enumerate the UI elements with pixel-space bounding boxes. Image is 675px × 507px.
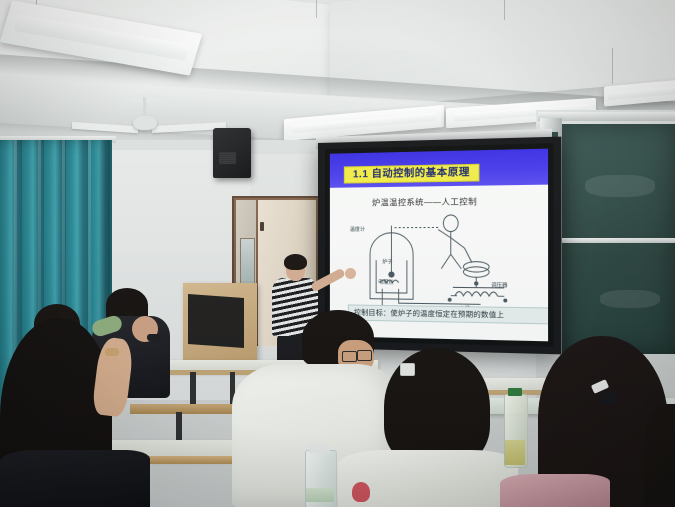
hair-tie: [601, 392, 617, 404]
chalk-smudge: [600, 290, 660, 308]
presenter-hand: [345, 268, 356, 279]
diagram-label-furnace: 炉子: [382, 258, 392, 265]
lamp-wire: [504, 0, 505, 20]
bottle-cap: [309, 444, 330, 453]
presenter-hair: [284, 254, 307, 270]
chalkboard-divider: [560, 238, 675, 243]
bottle-label: [306, 488, 334, 502]
podium-screen: [188, 294, 244, 348]
screen-surface: 1.1 自动控制的基本原理 炉温温控系统——人工控制: [330, 149, 548, 342]
shirt-logo: [352, 482, 370, 502]
presentation-slide: 1.1 自动控制的基本原理 炉温温控系统——人工控制: [330, 149, 548, 342]
slide-footer-note: 控制目标：使炉子的温度恒定在预期的数值上: [348, 304, 548, 324]
door-handle[interactable]: [260, 222, 264, 231]
student-hair: [644, 404, 675, 507]
ceiling-fan-icon: [133, 116, 157, 130]
wristwatch: [147, 334, 160, 341]
diagram-label-thermometer: 温度计: [350, 226, 365, 233]
speaker-grille: [219, 152, 236, 164]
bottle-cap: [508, 388, 522, 396]
furnace-control-diagram: [330, 208, 548, 319]
wrist-accessory: [105, 348, 119, 356]
student-shirt: [0, 450, 150, 507]
student-shirt: [500, 474, 610, 507]
light-tube: [608, 86, 675, 100]
chalk-smudge: [585, 175, 655, 197]
slide-title: 1.1 自动控制的基本原理: [344, 164, 480, 184]
speaker-icon: [213, 128, 251, 178]
lamp-wire: [612, 48, 613, 84]
classroom-photo: 1.1 自动控制的基本原理 炉温温控系统——人工控制: [0, 0, 675, 507]
diagram-label-heater-coil: 电阻丝: [378, 278, 393, 285]
slide-subtitle: 炉温温控系统——人工控制: [372, 196, 477, 208]
glasses-icon: [357, 350, 372, 361]
glasses-icon: [342, 351, 357, 362]
bottle-liquid: [505, 440, 525, 465]
lamp-wire: [316, 0, 317, 18]
diagram-label-rheostat: 调压器: [491, 282, 507, 289]
wall-outlet[interactable]: [400, 363, 415, 376]
